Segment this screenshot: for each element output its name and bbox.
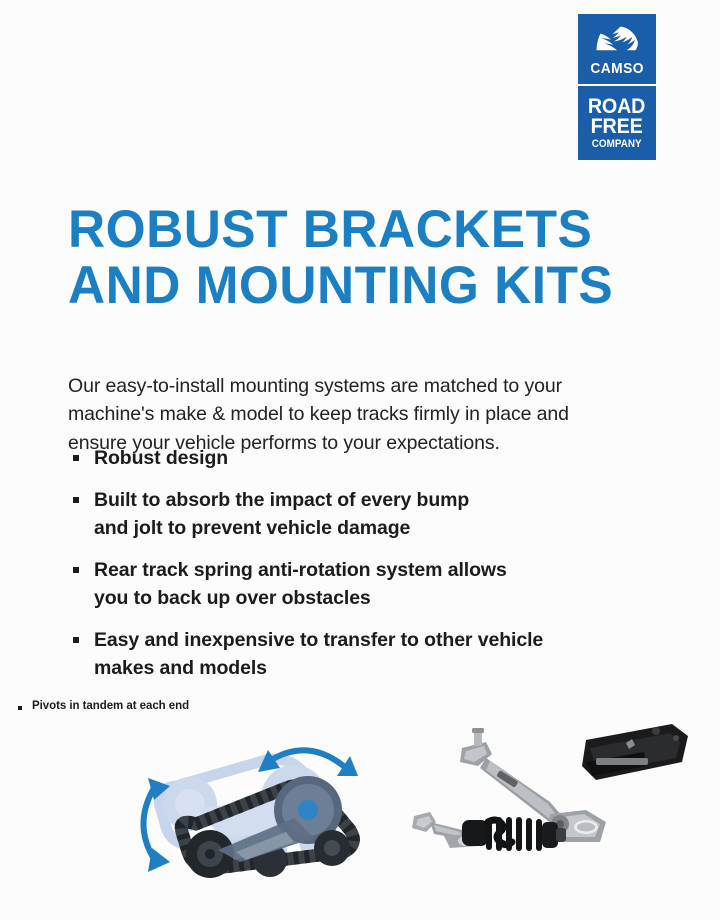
road-free-company-badge: ROAD FREE COMPANY bbox=[578, 86, 656, 160]
figure-row bbox=[0, 718, 720, 893]
rubber-track-pivot-illustration bbox=[118, 726, 388, 891]
camso-wordmark: CAMSO bbox=[590, 61, 644, 76]
camso-logo-block: CAMSO bbox=[578, 14, 656, 84]
coil-spring-damper-part bbox=[412, 812, 566, 851]
bullet-line: makes and models bbox=[94, 654, 630, 682]
bullet-line: Robust design bbox=[94, 444, 630, 472]
badge-line-company: COMPANY bbox=[592, 139, 642, 150]
camso-mountain-mark-icon bbox=[595, 25, 639, 59]
list-item: Easy and inexpensive to transfer to othe… bbox=[70, 626, 630, 682]
page-title-line-2: AND MOUNTING KITS bbox=[68, 258, 613, 314]
bullet-line: Built to absorb the impact of every bump bbox=[94, 486, 630, 514]
track-illustration-svg bbox=[118, 726, 388, 891]
page-title-line-1: ROBUST BRACKETS bbox=[68, 202, 613, 258]
badge-line-road: ROAD bbox=[588, 97, 645, 117]
footnote-caption: Pivots in tandem at each end bbox=[18, 700, 189, 712]
bullet-line: you to back up over obstacles bbox=[94, 584, 630, 612]
black-mounting-bracket-part bbox=[582, 724, 688, 780]
bullet-line: and jolt to prevent vehicle damage bbox=[94, 514, 630, 542]
list-item: Built to absorb the impact of every bump… bbox=[70, 486, 630, 542]
hardware-photo-svg bbox=[400, 718, 700, 888]
mounting-hardware-photo bbox=[400, 718, 700, 888]
feature-bullet-list: Robust design Built to absorb the impact… bbox=[70, 444, 630, 696]
bullet-line: Rear track spring anti-rotation system a… bbox=[94, 556, 630, 584]
list-item: Robust design bbox=[70, 444, 630, 472]
list-item: Rear track spring anti-rotation system a… bbox=[70, 556, 630, 612]
badge-line-free: FREE bbox=[591, 117, 643, 137]
brand-logo-stack: CAMSO ROAD FREE COMPANY bbox=[578, 14, 656, 160]
page-title: ROBUST BRACKETS AND MOUNTING KITS bbox=[68, 202, 630, 314]
bullet-line: Easy and inexpensive to transfer to othe… bbox=[94, 626, 630, 654]
